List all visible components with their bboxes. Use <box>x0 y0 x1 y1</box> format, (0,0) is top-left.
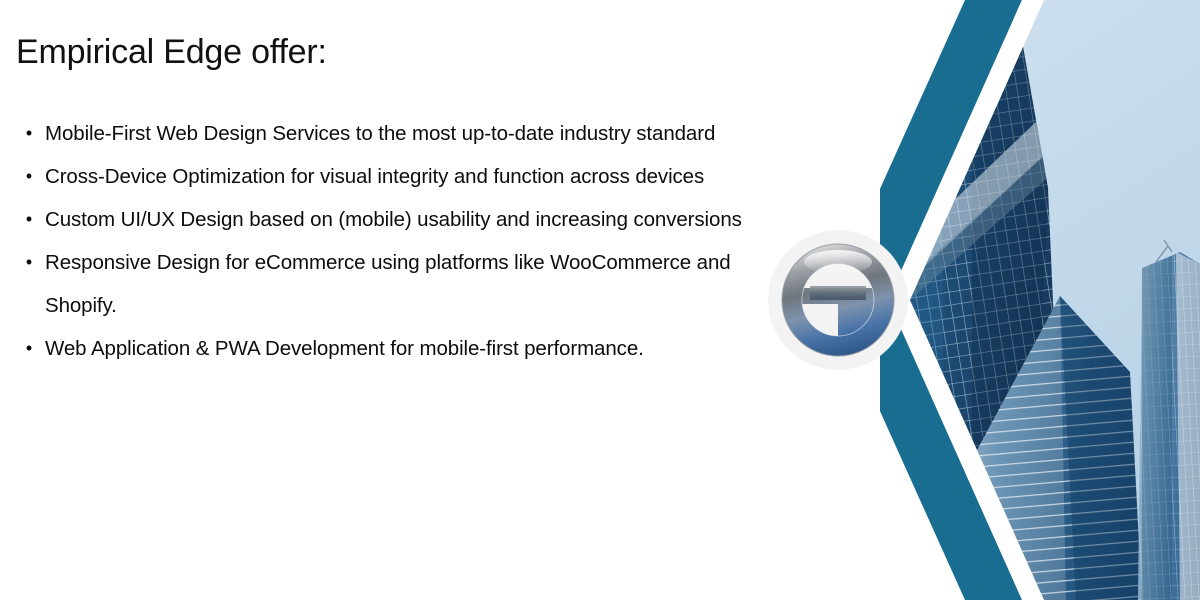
list-item: • Custom UI/UX Design based on (mobile) … <box>20 198 790 241</box>
list-item: • Responsive Design for eCommerce using … <box>20 241 790 327</box>
list-item: • Cross-Device Optimization for visual i… <box>20 155 790 198</box>
offer-list: • Mobile-First Web Design Services to th… <box>20 112 790 370</box>
graphic-panel <box>880 0 1200 600</box>
bullet-icon: • <box>22 112 36 155</box>
empirical-edge-e-icon <box>774 236 902 364</box>
list-item: • Web Application & PWA Development for … <box>20 327 790 370</box>
page-title: Empirical Edge offer: <box>16 34 327 71</box>
list-item: • Mobile-First Web Design Services to th… <box>20 112 790 155</box>
bullet-icon: • <box>22 241 36 284</box>
skyscrapers-photo <box>880 0 1200 600</box>
logo-badge <box>768 230 908 370</box>
list-item-label: Cross-Device Optimization for visual int… <box>45 155 790 198</box>
list-item-label: Responsive Design for eCommerce using pl… <box>45 241 790 327</box>
slide-canvas: Empirical Edge offer: • Mobile-First Web… <box>0 0 1200 600</box>
content-area: Empirical Edge offer: • Mobile-First Web… <box>0 0 800 600</box>
bullet-icon: • <box>22 198 36 241</box>
list-item-label: Web Application & PWA Development for mo… <box>45 327 790 370</box>
list-item-label: Custom UI/UX Design based on (mobile) us… <box>45 198 790 241</box>
bullet-icon: • <box>22 155 36 198</box>
bullet-icon: • <box>22 327 36 370</box>
list-item-label: Mobile-First Web Design Services to the … <box>45 112 790 155</box>
